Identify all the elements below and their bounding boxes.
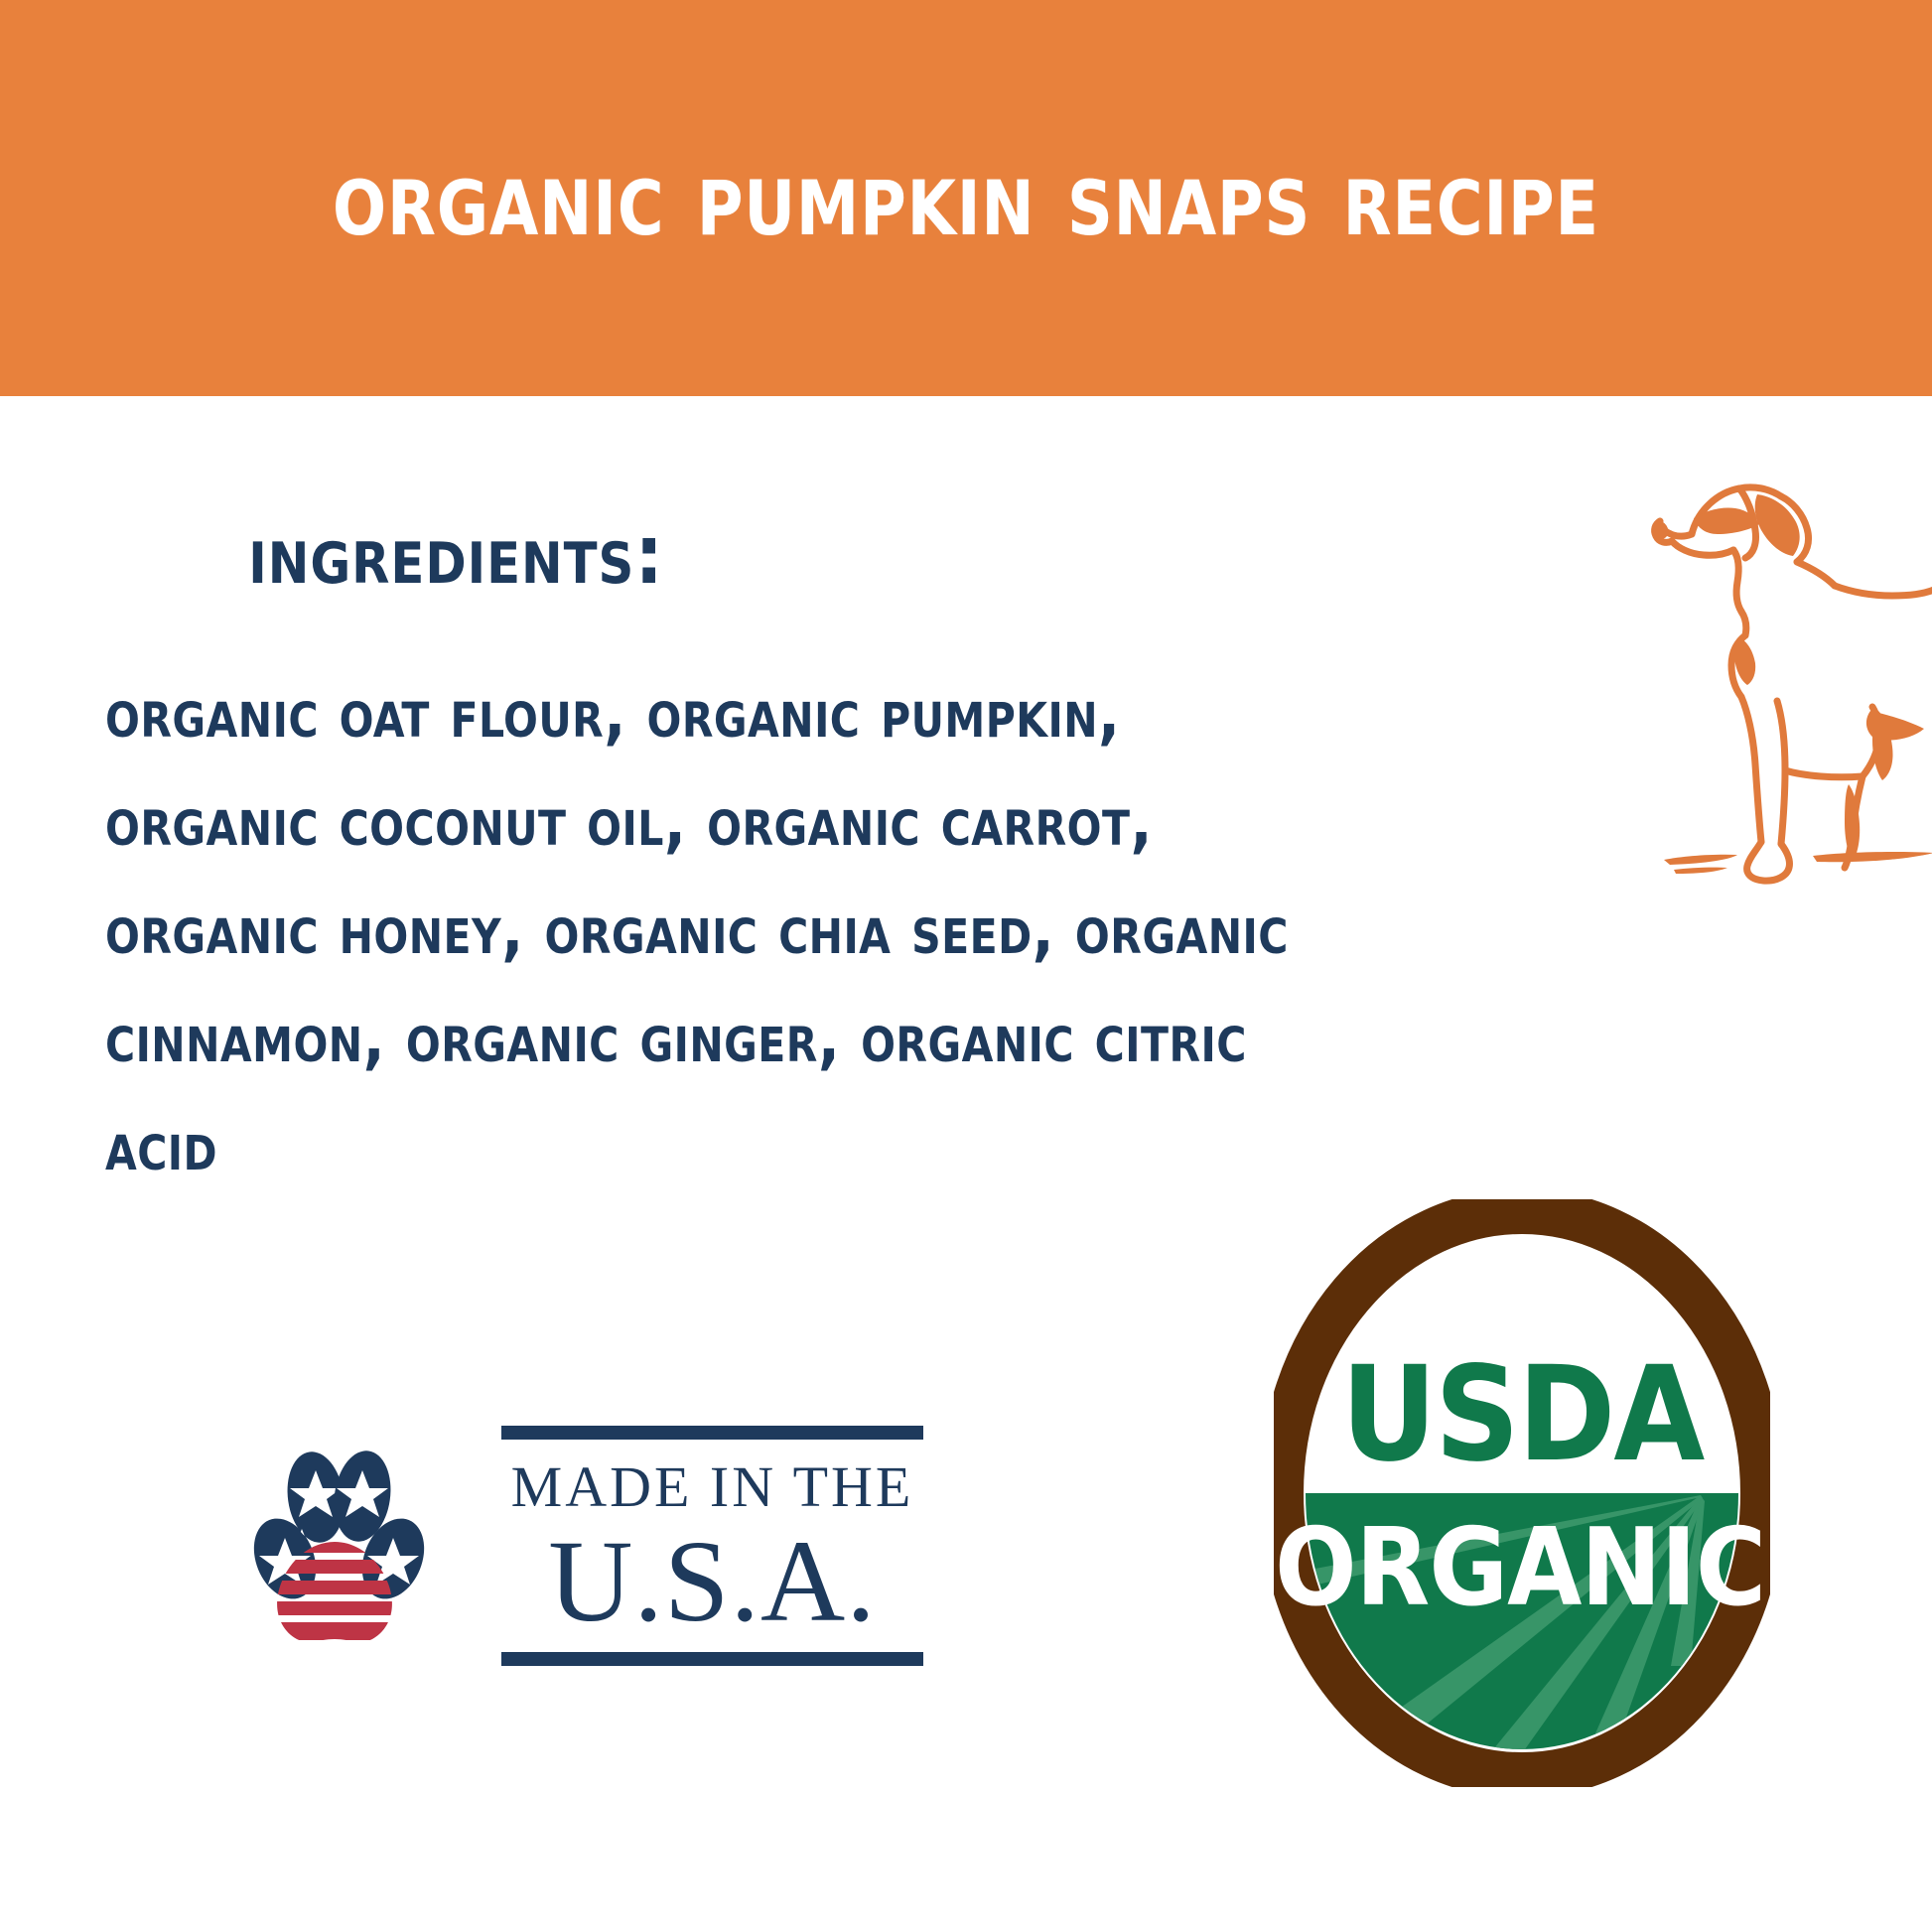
usda-seal-top-text: USDA — [1341, 1338, 1706, 1491]
ingredients-line: Cinnamon, Organic Ginger, Organic Citric — [105, 985, 1420, 1093]
ingredients-line: Organic Oat Flour, Organic Pumpkin, — [105, 660, 1420, 768]
ingredients-line: Organic Honey, Organic Chia Seed, Organi… — [105, 877, 1420, 985]
made-in-usa-logo: MADE IN THE U.S.A. — [228, 1422, 943, 1670]
dog-illustration — [1636, 427, 1932, 894]
page-title: Organic Pumpkin Snaps Recipe — [333, 145, 1599, 252]
header-banner: Organic Pumpkin Snaps Recipe — [0, 0, 1932, 396]
ingredients-list: Organic Oat Flour, Organic Pumpkin, Orga… — [0, 597, 1489, 1201]
made-in-usa-textblock: MADE IN THE U.S.A. — [501, 1426, 923, 1667]
usda-organic-seal: USDA ORGANIC — [1274, 1199, 1770, 1787]
made-in-the-label: MADE IN THE — [501, 1457, 923, 1518]
usa-label: U.S.A. — [501, 1520, 923, 1643]
ingredients-section: Ingredients: Organic Oat Flour, Organic … — [0, 396, 1489, 1201]
paw-print-flag-icon — [228, 1435, 442, 1658]
usda-seal-bottom-text: ORGANIC — [1275, 1506, 1765, 1630]
ingredients-heading: Ingredients: — [0, 396, 1445, 597]
ingredients-line: Organic Coconut Oil, Organic Carrot, — [105, 768, 1420, 877]
ingredients-line: Acid — [105, 1093, 1420, 1201]
usda-organic-seal-icon: USDA ORGANIC — [1274, 1199, 1770, 1787]
dog-line-art-icon — [1636, 427, 1932, 894]
